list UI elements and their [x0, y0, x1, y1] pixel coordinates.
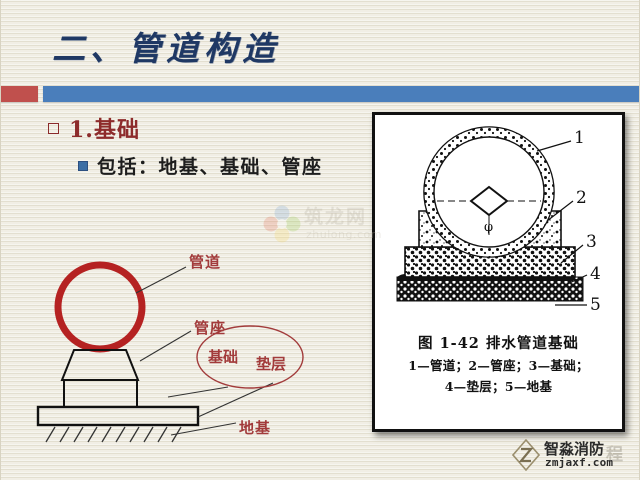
subgrade-hatching: [46, 427, 181, 442]
bullet-level1-label: 1.基础: [69, 112, 140, 144]
slide-title: 二、管道构造: [52, 22, 280, 70]
hollow-square-bullet-icon: [48, 123, 59, 134]
label-bedding: 垫层: [256, 355, 286, 373]
left-schematic-svg: 管道 管座 基础 垫层 地基: [28, 245, 358, 450]
presentation-slide: 二、管道构造 1.基础 包括：地基、基础、管座: [0, 0, 640, 480]
center-watermark-text: 筑龙网: [304, 202, 367, 229]
label-pipe: 管道: [189, 253, 221, 271]
leader-line-foundation: [168, 387, 228, 397]
corner-watermark: 程 智淼消防 zmjaxf.com: [512, 438, 636, 474]
callout-number-2: 2: [576, 188, 587, 208]
callout-number-4: 4: [590, 264, 601, 284]
callout-leader-1: [537, 141, 571, 151]
technical-figure-panel: φ 1 2 3 4 5 图 1-42 排水管道基础 1—管道；2—管座；3—基础…: [372, 112, 625, 432]
filled-square-bullet-icon: [78, 161, 88, 171]
label-pipe-seat: 管座: [194, 319, 226, 337]
center-watermark-url: zhulong.com: [306, 228, 382, 241]
left-schematic-diagram: 管道 管座 基础 垫层 地基: [28, 245, 358, 450]
label-subgrade: 地基: [239, 419, 271, 437]
technical-drawing-svg: φ 1 2 3 4 5: [375, 119, 622, 334]
foundation-slab-shape: [38, 407, 198, 425]
divider-bar-blue: [43, 86, 640, 102]
figure-caption-title: 图 1-42 排水管道基础: [375, 333, 622, 355]
leader-line-bedding: [198, 383, 273, 417]
diameter-symbol-label: φ: [484, 220, 493, 235]
divider-bar-red: [0, 86, 38, 102]
leader-line-pipe: [136, 267, 186, 293]
figure-caption-block: 图 1-42 排水管道基础 1—管道；2—管座；3—基础； 4—垫层；5—地基: [375, 333, 622, 397]
diamond-logo-icon: [512, 439, 540, 471]
figure-legend-line-2: 4—垫层；5—地基: [375, 376, 622, 397]
callout-number-5: 5: [590, 295, 601, 315]
flower-logo-icon: [262, 204, 302, 244]
pipe-seat-shape: [62, 350, 138, 380]
label-foundation: 基础: [207, 348, 238, 366]
callout-number-1: 1: [574, 128, 585, 148]
pipe-circle-shape: [58, 265, 142, 349]
figure-legend-line-1: 1—管道；2—管座；3—基础；: [375, 355, 622, 376]
bullet-level2-label: 包括：地基、基础、管座: [97, 152, 323, 179]
callout-number-3: 3: [586, 232, 597, 252]
bullet-level2: 包括：地基、基础、管座: [78, 152, 323, 179]
corner-watermark-ghost-text: 程: [606, 440, 623, 465]
corner-watermark-url: zmjaxf.com: [545, 456, 613, 469]
corner-watermark-name: 智淼消防: [544, 438, 604, 459]
leader-line-pipe-seat: [140, 331, 191, 361]
bullet-level1: 1.基础: [48, 112, 140, 144]
